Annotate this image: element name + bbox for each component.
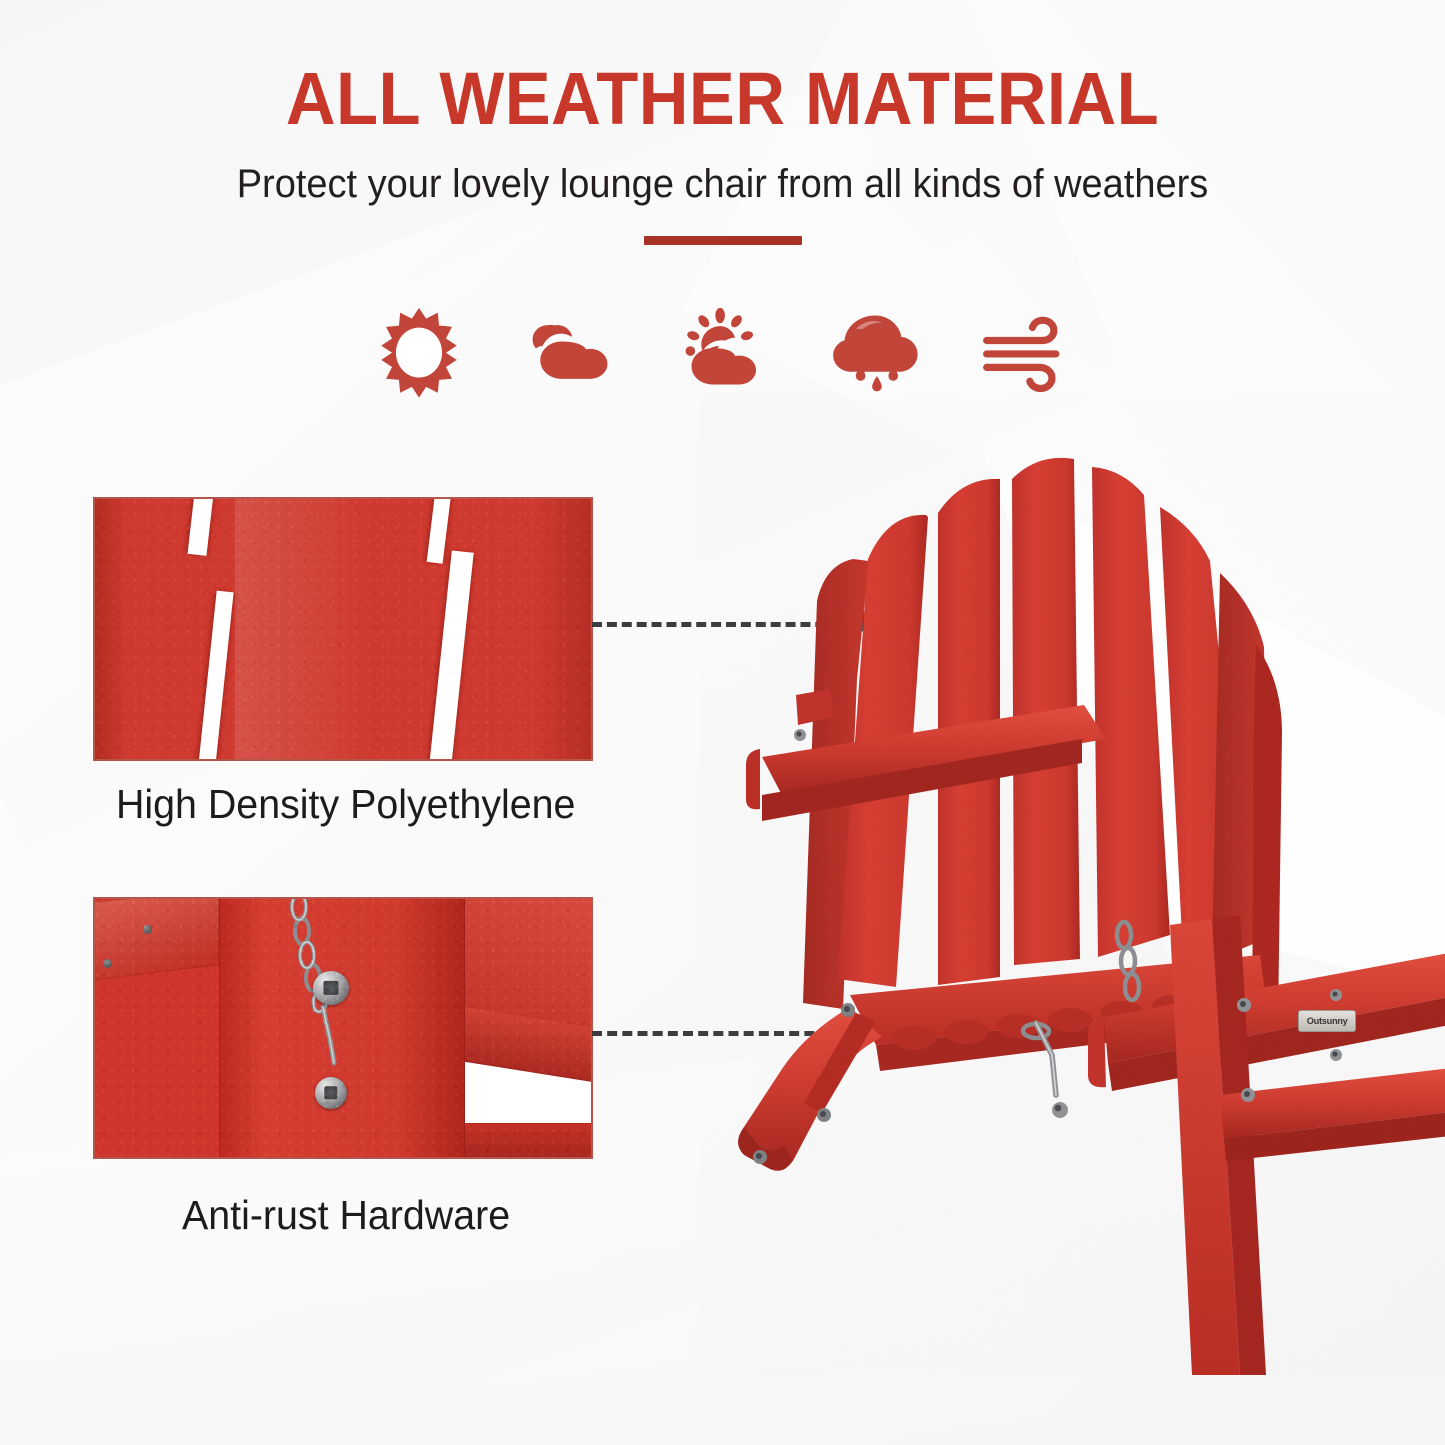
partly-sunny-icon bbox=[675, 304, 771, 400]
wind-icon bbox=[979, 304, 1075, 400]
feature-caption-hdpe: High Density Polyethylene bbox=[116, 781, 575, 828]
rain-cloud-icon bbox=[827, 304, 923, 400]
product-feature-image: ALL WEATHER MATERIAL Protect your lovely… bbox=[0, 0, 1445, 1445]
feature-caption-hardware: Anti-rust Hardware bbox=[182, 1192, 510, 1239]
title-divider bbox=[644, 236, 802, 245]
page-subtitle: Protect your lovely lounge chair from al… bbox=[36, 162, 1409, 206]
slat-photo bbox=[95, 499, 591, 759]
header: ALL WEATHER MATERIAL Protect your lovely… bbox=[0, 62, 1445, 245]
brand-label: Outsunny bbox=[1298, 1010, 1356, 1032]
hardware-chain-closeup bbox=[93, 897, 593, 1159]
hardware-texture bbox=[95, 899, 591, 1157]
hdpe-slat-closeup bbox=[93, 497, 593, 761]
cloudy-icon bbox=[523, 304, 619, 400]
slat-texture bbox=[95, 499, 591, 759]
folding-adirondack-chair bbox=[700, 395, 1445, 1375]
sun-icon bbox=[371, 304, 467, 400]
brand-label-text: Outsunny bbox=[1307, 1016, 1348, 1026]
hardware-photo bbox=[95, 899, 591, 1157]
page-title: ALL WEATHER MATERIAL bbox=[51, 62, 1395, 136]
weather-icon-row bbox=[0, 304, 1445, 400]
